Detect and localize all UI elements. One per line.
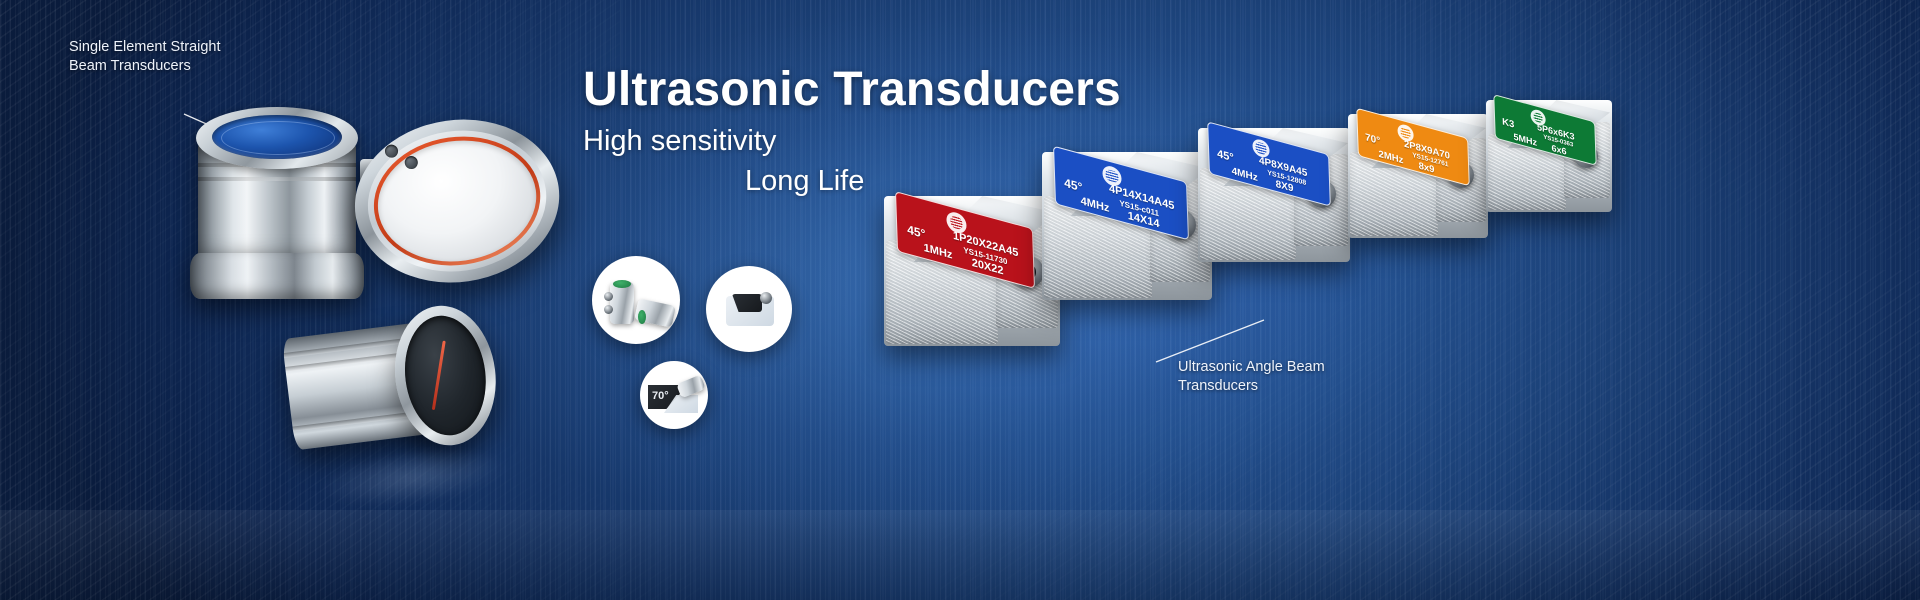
straight-beam-probe-upright bbox=[190, 103, 372, 293]
thumbnail-small-angle-block[interactable] bbox=[706, 266, 792, 352]
callout-right-text: Ultrasonic Angle Beam Transducers bbox=[1178, 358, 1325, 396]
banner-root: Ultrasonic Transducers High sensitivity … bbox=[0, 0, 1920, 600]
angle-beam-transducer-red[interactable]: 1P20X22A45 YS15-11730 45° 1MHz 20X22 bbox=[884, 196, 1060, 346]
straight-beam-probe-dark-face bbox=[280, 298, 506, 470]
angle-beam-transducer-blue-14x14[interactable]: 4P14X14A45 YS15-c011 45° 4MHz 14X14 bbox=[1042, 152, 1212, 300]
label-frequency: 4MHz bbox=[1080, 195, 1109, 215]
straight-beam-probe-disc bbox=[344, 107, 570, 302]
label-frequency: 1MHz bbox=[923, 242, 952, 262]
angle-beam-transducer-orange[interactable]: 2P8X9A70 YS15-12761 70° 2MHz 8x9 bbox=[1348, 114, 1488, 238]
label-angle: 45° bbox=[1064, 176, 1083, 195]
background-floor-reflection bbox=[0, 510, 1920, 600]
label-angle: 45° bbox=[1217, 148, 1234, 165]
thumb-connector bbox=[604, 292, 613, 301]
thumb-green-face-icon bbox=[638, 310, 646, 324]
probe-reflection bbox=[315, 439, 510, 516]
background-diagonal-bottom-right bbox=[940, 270, 1920, 600]
page-title: Ultrasonic Transducers bbox=[583, 62, 1121, 117]
thumbnail-wedge-70-degree[interactable]: 70° bbox=[640, 361, 708, 429]
thumbnail-dual-element-probes[interactable] bbox=[592, 256, 680, 344]
label-angle: 45° bbox=[907, 222, 926, 241]
probe-groove bbox=[198, 177, 356, 181]
probe-blue-face bbox=[212, 115, 342, 159]
angle-beam-transducer-green[interactable]: 5P6x6K3 YS15-0363 K3 5MHz 6x6 bbox=[1486, 100, 1612, 212]
callout-left-text: Single Element Straight Beam Transducers bbox=[69, 38, 221, 76]
thumb-connector bbox=[604, 305, 613, 314]
thumb-green-face-icon bbox=[613, 280, 631, 288]
thumb-probe-body bbox=[610, 282, 634, 324]
thumb-connector bbox=[760, 292, 772, 304]
subtitle-long-life: Long Life bbox=[745, 165, 864, 198]
thumb-angle-label: 70° bbox=[652, 390, 669, 402]
subtitle-high-sensitivity: High sensitivity bbox=[583, 125, 776, 158]
label-angle: 70° bbox=[1365, 132, 1380, 147]
angle-beam-transducer-blue-8x9[interactable]: 4P8X9A45 YS15-12808 45° 4MHz 8X9 bbox=[1198, 128, 1350, 262]
thumb-probe-body bbox=[676, 375, 706, 399]
probe-skirt bbox=[190, 253, 364, 299]
label-angle: K3 bbox=[1502, 116, 1515, 130]
